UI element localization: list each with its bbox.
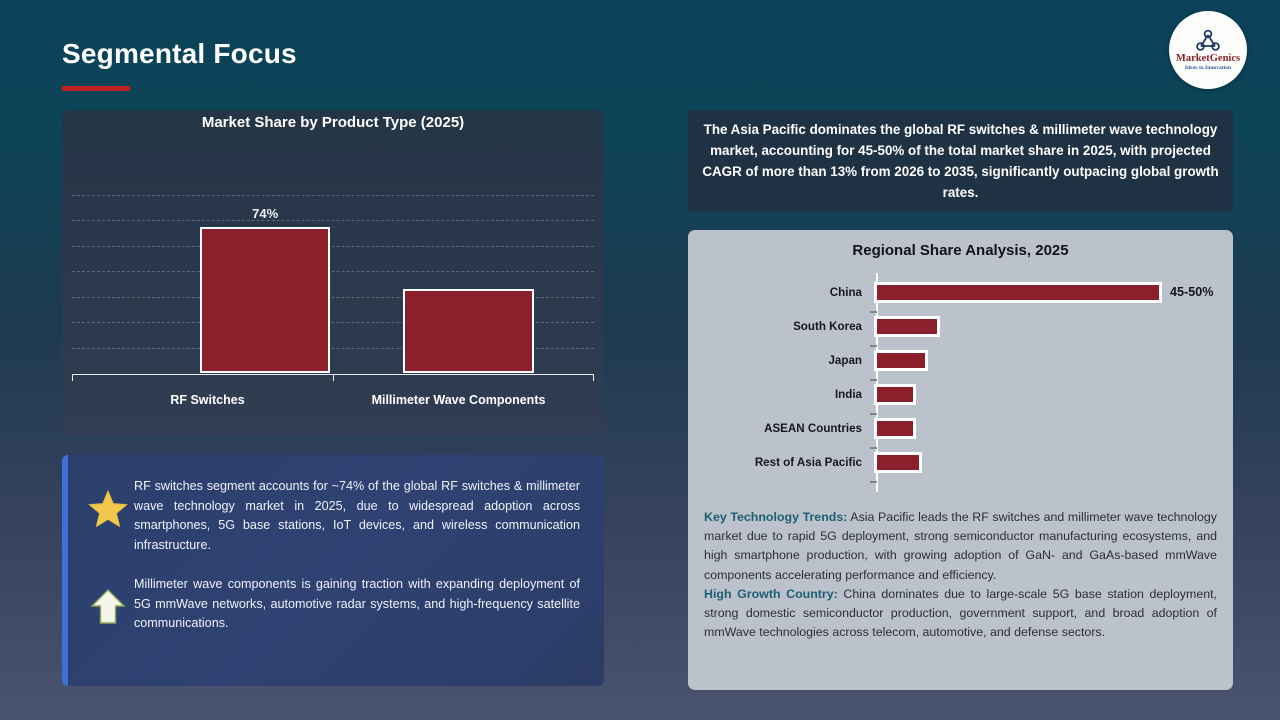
- insights-card: RF switches segment accounts for ~74% of…: [62, 455, 604, 686]
- note-key-technology-trends: Key Technology Trends: Asia Pacific lead…: [704, 508, 1217, 585]
- bar-group-millimeter-wave-components[interactable]: [403, 195, 534, 373]
- axis-tick: [333, 374, 334, 381]
- bar-row-south-korea[interactable]: South Korea: [704, 311, 1219, 341]
- bar-label-japan: Japan: [704, 354, 872, 367]
- bar-india[interactable]: [874, 384, 916, 405]
- bar-row-asean-countries[interactable]: ASEAN Countries: [704, 413, 1219, 443]
- product-chart-x-axis: [72, 374, 594, 375]
- logo-tagline: Ideas to Innovation: [1185, 66, 1231, 72]
- up-arrow-icon-wrap: [82, 575, 134, 627]
- note-label-key-technology-trends: Key Technology Trends:: [704, 510, 847, 524]
- bar-label-rest-of-asia-pacific: Rest of Asia Pacific: [704, 456, 872, 469]
- bar-row-china[interactable]: China 45-50%: [704, 277, 1219, 307]
- bar-asean-countries[interactable]: [874, 418, 916, 439]
- bar-value-label-rf-switches: 74%: [252, 206, 278, 221]
- insight-text-millimeter-wave: Millimeter wave components is gaining tr…: [134, 575, 586, 634]
- star-icon-wrap: [82, 477, 134, 529]
- product-chart-title: Market Share by Product Type (2025): [62, 110, 604, 131]
- up-arrow-icon: [89, 587, 127, 627]
- insight-item-millimeter-wave: Millimeter wave components is gaining tr…: [82, 575, 586, 634]
- regional-callout-text: The Asia Pacific dominates the global RF…: [700, 119, 1221, 203]
- axis-tick: [593, 374, 594, 381]
- node-graph-icon: [1193, 29, 1223, 53]
- note-high-growth-country: High Growth Country: China dominates due…: [704, 585, 1217, 643]
- axis-tick: [72, 374, 73, 381]
- bar-label-south-korea: South Korea: [704, 320, 872, 333]
- category-label-millimeter-wave-components: Millimeter Wave Components: [323, 393, 594, 407]
- logo-brand-name: MarketGenics: [1176, 54, 1240, 65]
- bar-row-rest-of-asia-pacific[interactable]: Rest of Asia Pacific: [704, 447, 1219, 477]
- bar-value-china: 45-50%: [1170, 285, 1213, 299]
- bar-row-japan[interactable]: Japan: [704, 345, 1219, 375]
- bar-label-china: China: [704, 286, 872, 299]
- note-label-high-growth-country: High Growth Country:: [704, 587, 838, 601]
- bar-china[interactable]: [874, 282, 1162, 303]
- page-title: Segmental Focus: [62, 38, 297, 70]
- regional-notes: Key Technology Trends: Asia Pacific lead…: [702, 508, 1219, 642]
- bar-millimeter-wave-components[interactable]: [403, 289, 534, 373]
- regional-share-card: Regional Share Analysis, 2025 China 45-5…: [688, 230, 1233, 690]
- bar-rf-switches[interactable]: [200, 227, 331, 373]
- bar-japan[interactable]: [874, 350, 928, 371]
- bar-label-india: India: [704, 388, 872, 401]
- bar-row-india[interactable]: India: [704, 379, 1219, 409]
- insight-text-rf-switches: RF switches segment accounts for ~74% of…: [134, 477, 586, 555]
- bar-group-rf-switches[interactable]: 74%: [200, 195, 331, 373]
- bar-label-asean-countries: ASEAN Countries: [704, 422, 872, 435]
- insight-item-rf-switches: RF switches segment accounts for ~74% of…: [82, 477, 586, 555]
- regional-callout-banner: The Asia Pacific dominates the global RF…: [688, 110, 1233, 212]
- product-share-chart-card: Market Share by Product Type (2025) 74% …: [62, 110, 604, 435]
- regional-chart-plot-area: China 45-50% South Korea Japan India ASE…: [704, 269, 1219, 494]
- regional-chart-title: Regional Share Analysis, 2025: [702, 242, 1219, 259]
- title-underline-rule: [62, 86, 130, 91]
- star-icon: [88, 489, 128, 529]
- axis-tick: [870, 481, 877, 483]
- category-label-rf-switches: RF Switches: [72, 393, 343, 407]
- bar-south-korea[interactable]: [874, 316, 940, 337]
- company-logo: MarketGenics Ideas to Innovation: [1169, 11, 1247, 89]
- product-chart-plot-area: 74%: [72, 195, 594, 373]
- bar-rest-of-asia-pacific[interactable]: [874, 452, 922, 473]
